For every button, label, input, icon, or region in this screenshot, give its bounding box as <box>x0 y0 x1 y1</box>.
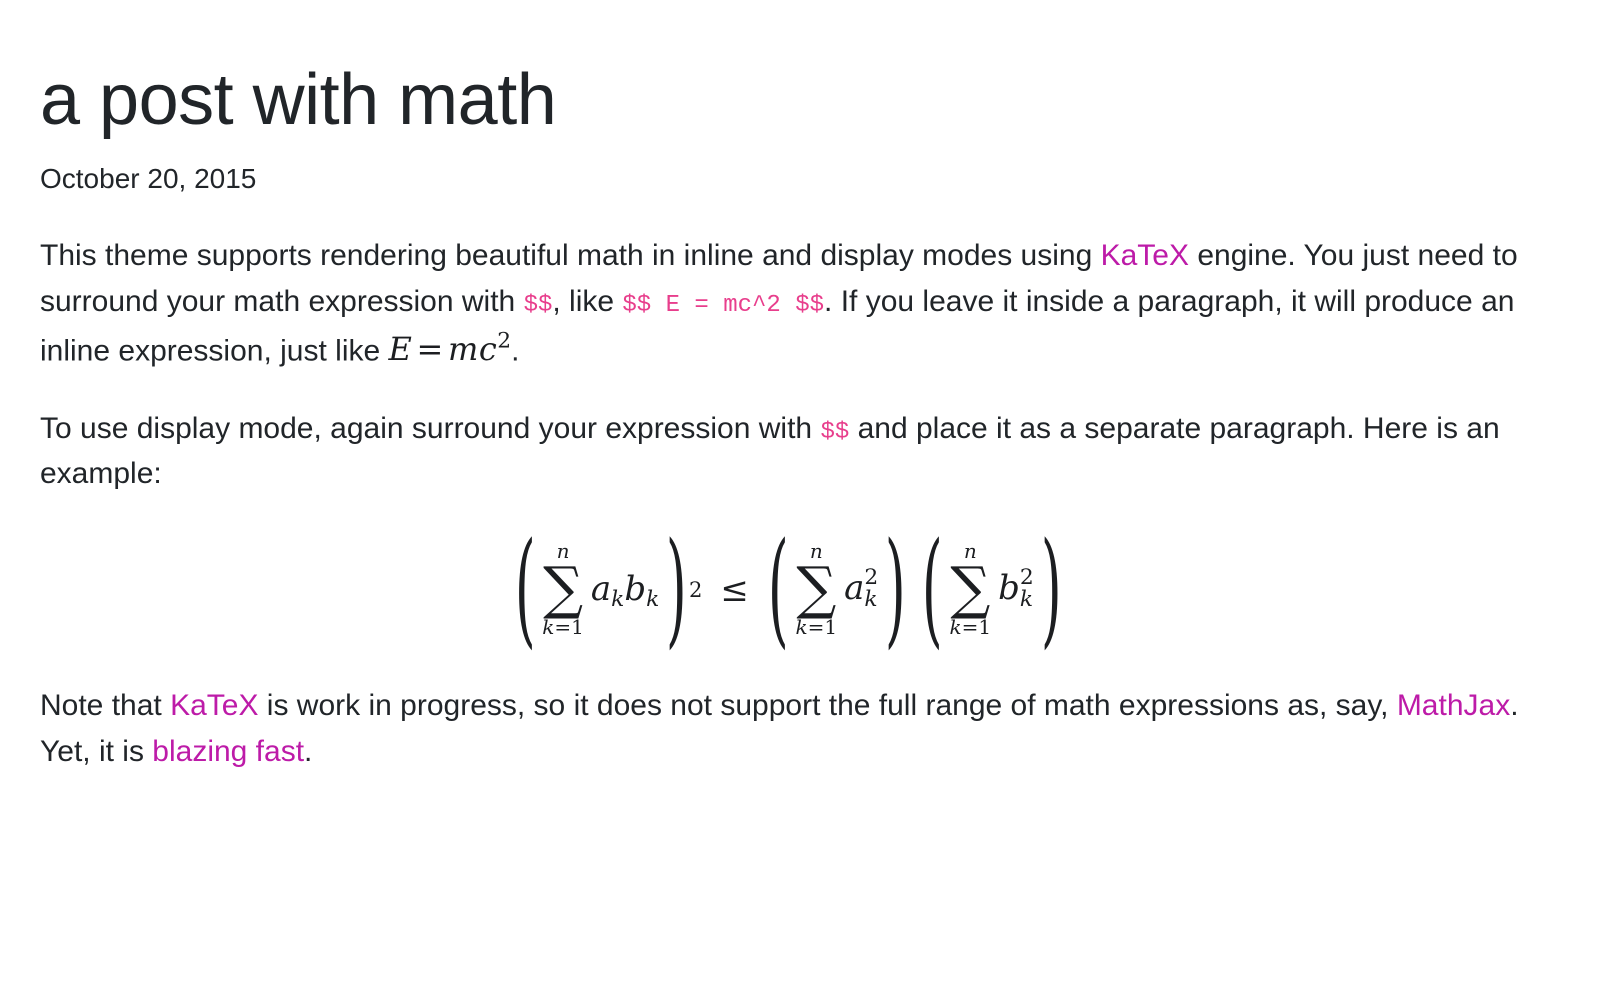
code-dollar-delimiters: $$ <box>524 292 553 319</box>
paren-open-icon: ( <box>515 526 536 651</box>
math-symbol-a: a <box>844 568 864 608</box>
paren-close-icon: ) <box>666 526 687 651</box>
math-subscript-k: k <box>864 589 878 611</box>
paragraph-note: Note that KaTeX is work in progress, so … <box>40 683 1536 774</box>
post-date: October 20, 2015 <box>40 162 1536 196</box>
math-symbol-m: m <box>448 330 479 368</box>
paragraph-text: Note that <box>40 689 170 722</box>
sigma-icon: ∑ <box>950 562 990 615</box>
math-superscript-2: 2 <box>864 567 878 589</box>
sigma-icon: ∑ <box>796 562 836 615</box>
summation-2: n ∑ k=1 <box>796 541 838 638</box>
paragraph-text: To use display mode, again surround your… <box>40 412 820 445</box>
summation-3: n ∑ k=1 <box>950 541 992 638</box>
code-math-example: $$ E = mc^2 $$ <box>622 292 824 319</box>
paragraph-text: . <box>511 334 519 367</box>
paren-open-icon: ( <box>922 526 943 651</box>
post-page: a post with math October 20, 2015 This t… <box>0 0 1600 1000</box>
math-symbol-a: a <box>591 569 611 609</box>
post-content: This theme supports rendering beautiful … <box>40 233 1536 774</box>
paragraph-text: is work in progress, so it does not supp… <box>258 689 1396 722</box>
display-math-cauchy-schwarz: ( n ∑ k=1 akbk ) 2 ≤ ( n ∑ k=1 a2k ) <box>40 541 1536 638</box>
term-ak-bk: akbk <box>591 569 659 612</box>
paragraph-text: . <box>304 735 312 768</box>
math-relation-leq: ≤ <box>720 570 749 610</box>
page-title: a post with math <box>40 62 1536 140</box>
paren-close-icon: ) <box>885 526 906 651</box>
math-subsup-k-2: 2k <box>1020 567 1034 611</box>
paragraph-text: This theme supports rendering beautiful … <box>40 239 1101 272</box>
math-symbol-b: b <box>624 569 646 609</box>
paragraph-display-mode: To use display mode, again surround your… <box>40 406 1536 497</box>
math-operator-equals: = <box>412 330 448 368</box>
code-dollar-delimiters: $$ <box>820 419 849 446</box>
math-exponent-2: 2 <box>497 329 511 354</box>
term-ak-squared: a2k <box>844 568 878 612</box>
math-subscript-k: k <box>611 587 624 612</box>
math-symbol-c: c <box>479 330 497 368</box>
link-blazing-fast[interactable]: blazing fast <box>152 735 304 768</box>
paren-close-icon: ) <box>1041 526 1062 651</box>
link-katex[interactable]: KaTeX <box>1101 239 1189 272</box>
inline-math-emc2: E=mc2 <box>389 330 512 368</box>
math-symbol-b: b <box>998 568 1020 608</box>
math-equation-row: ( n ∑ k=1 akbk ) 2 ≤ ( n ∑ k=1 a2k ) <box>514 541 1063 638</box>
paragraph-text: , like <box>552 285 622 318</box>
math-subsup-k-2: 2k <box>864 567 878 611</box>
math-subscript-k: k <box>1020 589 1034 611</box>
math-symbol-E: E <box>389 330 413 368</box>
sigma-icon: ∑ <box>543 562 583 615</box>
paragraph-intro: This theme supports rendering beautiful … <box>40 233 1536 373</box>
math-outer-exponent-2: 2 <box>689 577 702 602</box>
math-superscript-2: 2 <box>1020 567 1034 589</box>
link-mathjax[interactable]: MathJax <box>1397 689 1510 722</box>
paren-open-icon: ( <box>768 526 789 651</box>
summation-1: n ∑ k=1 <box>542 541 584 638</box>
term-bk-squared: b2k <box>998 568 1034 612</box>
math-subscript-k: k <box>646 587 659 612</box>
link-katex[interactable]: KaTeX <box>170 689 258 722</box>
